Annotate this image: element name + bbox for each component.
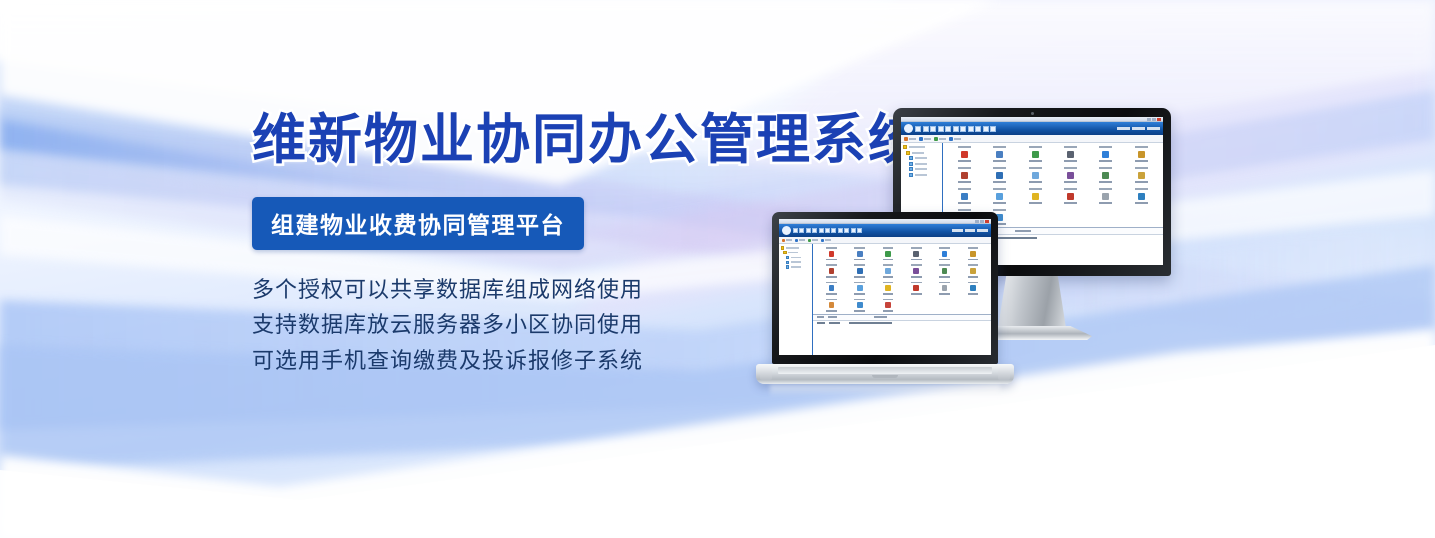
tree-node[interactable]: [781, 256, 810, 259]
menu-item[interactable]: [825, 228, 830, 233]
tree-node[interactable]: [781, 261, 810, 264]
module-glyph-icon: [1138, 151, 1145, 158]
module-icon[interactable]: [1064, 146, 1077, 162]
app-body: [779, 244, 991, 355]
maximize-icon[interactable]: [1152, 118, 1156, 121]
laptop-hinge-right: [998, 367, 1010, 380]
tree-node[interactable]: [903, 156, 940, 160]
window-controls[interactable]: [1147, 118, 1161, 121]
header-action[interactable]: [1117, 127, 1130, 131]
module-glyph-icon: [1067, 193, 1074, 200]
tree-node[interactable]: [903, 167, 940, 171]
header-action[interactable]: [952, 229, 963, 232]
column-header: [817, 316, 824, 318]
maximize-icon[interactable]: [980, 220, 984, 223]
menu-item[interactable]: [945, 126, 951, 132]
module-glyph-icon: [1138, 172, 1145, 179]
module-glyph-icon: [885, 268, 891, 274]
module-icon[interactable]: [958, 146, 971, 162]
menu-item[interactable]: [806, 228, 811, 233]
module-icon[interactable]: [883, 282, 894, 295]
menu-item[interactable]: [930, 126, 936, 132]
close-icon[interactable]: [1157, 118, 1161, 121]
module-glyph-icon: [1067, 172, 1074, 179]
module-icon[interactable]: [826, 299, 837, 312]
module-glyph-icon: [1102, 193, 1109, 200]
module-icon[interactable]: [911, 264, 922, 277]
module-glyph-icon: [1138, 193, 1145, 200]
toolbar-button[interactable]: [949, 137, 961, 141]
laptop-trackpad-notch: [872, 375, 898, 378]
module-glyph-icon: [1067, 151, 1074, 158]
module-glyph-icon: [913, 285, 919, 291]
toolbar-button[interactable]: [782, 239, 792, 242]
tree-node[interactable]: [903, 162, 940, 166]
app-menu-bar[interactable]: [793, 228, 862, 233]
toolbar-button[interactable]: [808, 239, 818, 242]
module-icon[interactable]: [993, 146, 1006, 162]
app-toolbar[interactable]: [901, 135, 1163, 143]
module-icon[interactable]: [1135, 167, 1148, 183]
module-icon[interactable]: [1099, 188, 1112, 204]
module-glyph-icon: [996, 172, 1003, 179]
module-glyph-icon: [961, 151, 968, 158]
app-toolbar[interactable]: [779, 237, 991, 244]
menu-item[interactable]: [819, 228, 824, 233]
toolbar-button[interactable]: [919, 137, 931, 141]
module-glyph-icon: [829, 268, 835, 274]
module-icon[interactable]: [826, 282, 837, 295]
module-icon[interactable]: [1064, 188, 1077, 204]
module-glyph-icon: [961, 193, 968, 200]
menu-item[interactable]: [831, 228, 836, 233]
module-glyph-icon: [970, 251, 976, 257]
module-glyph-icon: [885, 251, 891, 257]
close-icon[interactable]: [985, 220, 989, 223]
module-icon[interactable]: [826, 264, 837, 277]
module-icon[interactable]: [883, 264, 894, 277]
module-icon[interactable]: [958, 188, 971, 204]
module-glyph-icon: [829, 302, 835, 308]
module-glyph-icon: [913, 268, 919, 274]
toolbar-button[interactable]: [795, 239, 805, 242]
header-action[interactable]: [1132, 127, 1145, 131]
webcam-icon: [1031, 112, 1034, 115]
module-icon[interactable]: [1064, 167, 1077, 183]
app-logo-icon: [782, 226, 791, 235]
module-glyph-icon: [1032, 151, 1039, 158]
laptop-reflection: [770, 385, 1000, 397]
tree-node[interactable]: [781, 265, 810, 268]
menu-item[interactable]: [851, 228, 856, 233]
module-icon[interactable]: [1135, 188, 1148, 204]
minimize-icon[interactable]: [1147, 118, 1151, 121]
column-header: [828, 316, 837, 318]
module-icon[interactable]: [854, 282, 865, 295]
message-list-panel: [813, 314, 991, 355]
module-glyph-icon: [942, 251, 948, 257]
module-glyph-icon: [1032, 193, 1039, 200]
navigation-tree[interactable]: [779, 244, 813, 355]
toolbar-button[interactable]: [934, 137, 946, 141]
module-icon[interactable]: [993, 167, 1006, 183]
app-logo-icon: [904, 124, 913, 133]
module-icon[interactable]: [993, 188, 1006, 204]
module-icon[interactable]: [826, 247, 837, 260]
module-glyph-icon: [885, 285, 891, 291]
menu-item[interactable]: [857, 228, 862, 233]
toolbar-button[interactable]: [904, 137, 916, 141]
module-glyph-icon: [829, 285, 835, 291]
module-glyph-icon: [1032, 172, 1039, 179]
module-icon[interactable]: [1029, 188, 1042, 204]
header-action[interactable]: [1147, 127, 1160, 131]
module-icon[interactable]: [939, 282, 950, 295]
column-header: [874, 316, 887, 318]
menu-item[interactable]: [968, 126, 974, 132]
menu-item[interactable]: [838, 228, 843, 233]
module-glyph-icon: [857, 251, 863, 257]
tree-node[interactable]: [781, 246, 810, 249]
module-glyph-icon: [1102, 151, 1109, 158]
product-banner: 维新物业协同办公管理系统 组建物业收费协同管理平台 多个授权可以共享数据库组成网…: [0, 0, 1435, 538]
module-icon[interactable]: [854, 299, 865, 312]
menu-item[interactable]: [844, 228, 849, 233]
menu-item[interactable]: [960, 126, 966, 132]
module-glyph-icon: [1102, 172, 1109, 179]
app-header-bar: [779, 224, 991, 237]
menu-item[interactable]: [990, 126, 996, 132]
table-cell: [829, 322, 840, 324]
app-header-actions[interactable]: [1117, 127, 1160, 131]
module-icon[interactable]: [1029, 146, 1042, 162]
module-glyph-icon: [857, 302, 863, 308]
module-glyph-icon: [942, 285, 948, 291]
laptop-keyboard: [778, 367, 992, 374]
laptop-screen: [779, 219, 991, 355]
menu-item[interactable]: [938, 126, 944, 132]
module-glyph-icon: [829, 251, 835, 257]
module-icon[interactable]: [1135, 146, 1148, 162]
module-icon[interactable]: [854, 247, 865, 260]
tree-node[interactable]: [903, 151, 940, 155]
module-glyph-icon: [970, 268, 976, 274]
menu-item[interactable]: [983, 126, 989, 132]
menu-item[interactable]: [923, 126, 929, 132]
laptop-lid: [772, 212, 998, 364]
laptop-hinge-left: [760, 367, 772, 380]
module-icon[interactable]: [968, 264, 979, 277]
tree-node[interactable]: [903, 173, 940, 177]
menu-item[interactable]: [953, 126, 959, 132]
module-glyph-icon: [913, 251, 919, 257]
table-body: [813, 325, 991, 355]
module-glyph-icon: [857, 268, 863, 274]
module-icon[interactable]: [939, 247, 950, 260]
header-action[interactable]: [965, 229, 976, 232]
module-icon[interactable]: [911, 282, 922, 295]
module-glyph-icon: [996, 151, 1003, 158]
table-cell: [817, 322, 825, 324]
window-controls[interactable]: [975, 220, 989, 223]
module-icon[interactable]: [1099, 146, 1112, 162]
app-header-actions[interactable]: [952, 229, 988, 232]
column-header: [1015, 230, 1031, 232]
module-icon[interactable]: [1099, 167, 1112, 183]
module-icon[interactable]: [939, 264, 950, 277]
module-icon[interactable]: [1029, 167, 1042, 183]
table-cell: [849, 322, 892, 324]
app-header-bar: [901, 122, 1163, 135]
laptop: [756, 212, 1014, 398]
module-icon[interactable]: [883, 247, 894, 260]
app-window-laptop: [779, 219, 991, 355]
module-icon[interactable]: [968, 282, 979, 295]
module-icon-grid[interactable]: [813, 244, 991, 314]
module-icon[interactable]: [958, 167, 971, 183]
tagline-badge: 组建物业收费协同管理平台: [252, 197, 584, 250]
page-title: 维新物业协同办公管理系统: [252, 112, 892, 169]
module-glyph-icon: [961, 172, 968, 179]
tree-node[interactable]: [903, 145, 940, 149]
tree-node[interactable]: [781, 251, 810, 254]
module-glyph-icon: [942, 268, 948, 274]
menu-item[interactable]: [812, 228, 817, 233]
header-action[interactable]: [977, 229, 988, 232]
module-icon[interactable]: [883, 299, 894, 312]
module-icon[interactable]: [911, 247, 922, 260]
app-main-panel: [813, 244, 991, 355]
module-glyph-icon: [970, 285, 976, 291]
toolbar-button[interactable]: [821, 239, 831, 242]
module-icon[interactable]: [854, 264, 865, 277]
menu-item[interactable]: [975, 126, 981, 132]
module-glyph-icon: [885, 302, 891, 308]
module-icon[interactable]: [968, 247, 979, 260]
module-glyph-icon: [996, 193, 1003, 200]
module-glyph-icon: [857, 285, 863, 291]
app-menu-bar[interactable]: [915, 126, 996, 132]
minimize-icon[interactable]: [975, 220, 979, 223]
laptop-base: [756, 364, 1014, 384]
menu-item[interactable]: [793, 228, 798, 233]
menu-item[interactable]: [799, 228, 804, 233]
menu-item[interactable]: [915, 126, 921, 132]
